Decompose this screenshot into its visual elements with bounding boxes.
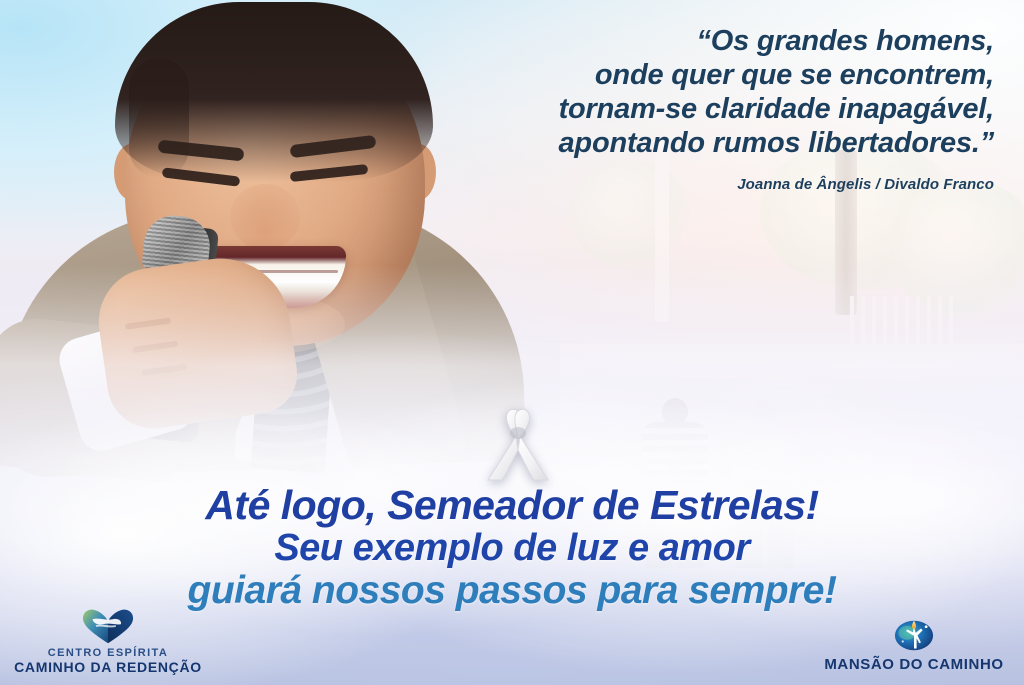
centro-espirita-logo: CENTRO ESPÍRITA CAMINHO DA REDENÇÃO <box>8 607 208 675</box>
globe-figure-icon <box>814 614 1014 652</box>
headline-line-2: Seu exemplo de luz e amor <box>0 529 1024 568</box>
nose <box>230 184 300 250</box>
background-scene <box>560 150 1024 450</box>
fence-decor <box>850 296 960 358</box>
quote-attribution: Joanna de Ângelis / Divaldo Franco <box>374 176 994 193</box>
quote-line-3: tornam-se claridade inapagável, <box>374 92 994 126</box>
headline-block: Até logo, Semeador de Estrelas! Seu exem… <box>0 484 1024 612</box>
quote-line-1: “Os grandes homens, <box>374 24 994 58</box>
headline-line-1: Até logo, Semeador de Estrelas! <box>0 484 1024 526</box>
mansao-do-caminho-logo: MANSÃO DO CAMINHO <box>814 614 1014 673</box>
quote-block: “Os grandes homens, onde quer que se enc… <box>374 24 994 193</box>
centro-espirita-line-1: CENTRO ESPÍRITA <box>8 647 208 659</box>
quote-line-4: apontando rumos libertadores.” <box>374 126 994 160</box>
memorial-poster: “Os grandes homens, onde quer que se enc… <box>0 0 1024 685</box>
heart-hands-icon <box>8 607 208 645</box>
headline-line-3: guiará nossos passos para sempre! <box>0 571 1024 611</box>
centro-espirita-line-2: CAMINHO DA REDENÇÃO <box>8 659 208 675</box>
mansao-do-caminho-label: MANSÃO DO CAMINHO <box>814 656 1014 673</box>
quote-line-2: onde quer que se encontrem, <box>374 58 994 92</box>
mourning-ribbon-icon <box>478 406 558 488</box>
